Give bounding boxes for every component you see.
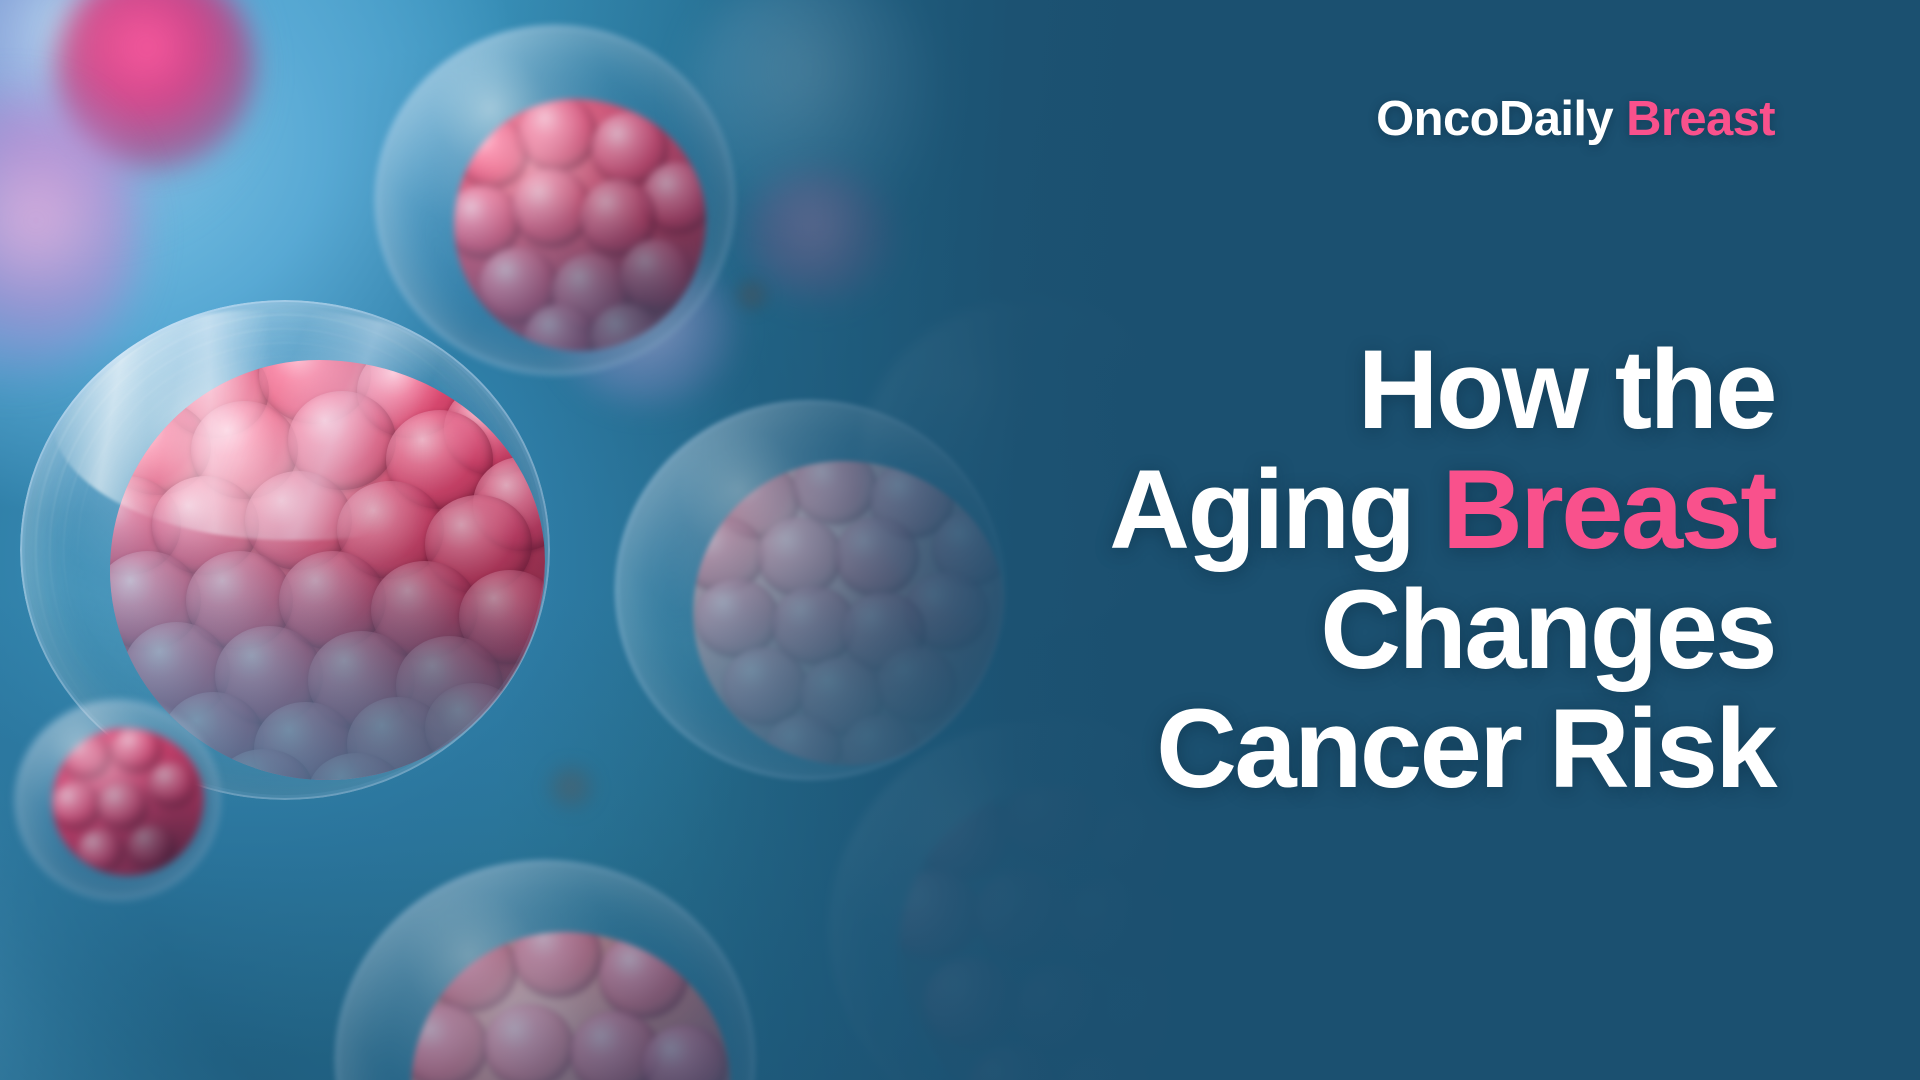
headline-line-4: Cancer Risk bbox=[675, 689, 1775, 809]
poster-canvas: OncoDaily Breast How the Aging Breast Ch… bbox=[0, 0, 1920, 1080]
headline-line-1: How the bbox=[675, 330, 1775, 450]
brand-logo-primary: OncoDaily bbox=[1376, 92, 1613, 146]
headline-line-2-white: Aging bbox=[1109, 447, 1413, 572]
page-title: How the Aging Breast Changes Cancer Risk bbox=[675, 330, 1775, 809]
headline-line-3: Changes bbox=[675, 570, 1775, 690]
brand-logo[interactable]: OncoDaily Breast bbox=[1376, 95, 1775, 144]
brand-logo-accent: Breast bbox=[1626, 92, 1775, 146]
headline-line-2-accent: Breast bbox=[1442, 447, 1775, 572]
headline-line-2: Aging Breast bbox=[675, 450, 1775, 570]
